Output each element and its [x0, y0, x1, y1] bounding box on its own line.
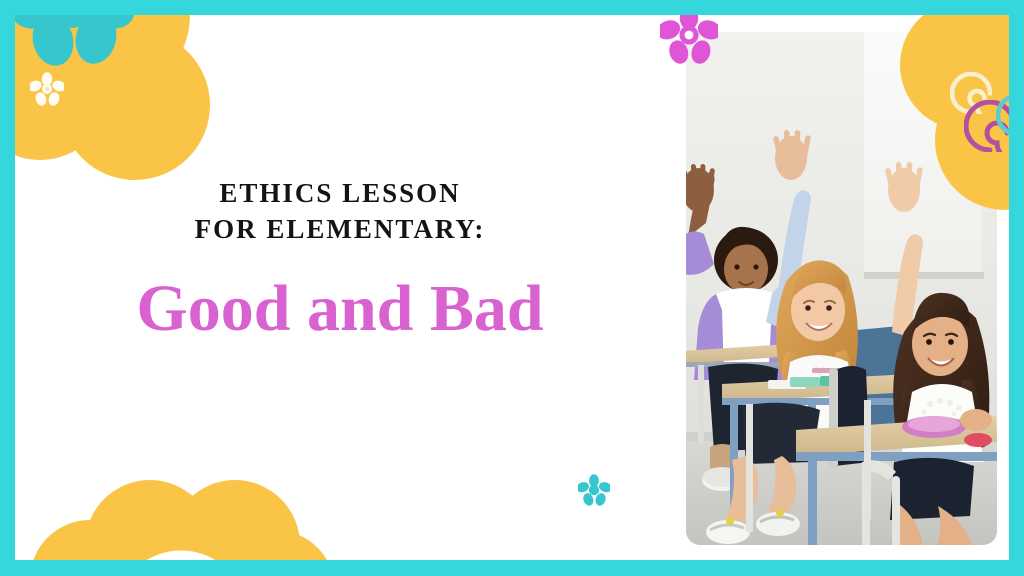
slide-text-block: ETHICS LESSON FOR ELEMENTARY: Good and B… — [40, 176, 640, 343]
frame-border-left — [0, 0, 15, 576]
frame-border-bottom — [0, 560, 1024, 576]
frame-border-right — [1009, 0, 1024, 576]
cyan-flower-small-icon — [578, 474, 610, 506]
page-title: Good and Bad — [40, 274, 640, 343]
slide-canvas: ETHICS LESSON FOR ELEMENTARY: Good and B… — [0, 0, 1024, 576]
frame-border-top — [0, 0, 1024, 15]
white-flower-icon — [30, 72, 64, 106]
page-eyebrow: ETHICS LESSON FOR ELEMENTARY: — [40, 176, 640, 248]
